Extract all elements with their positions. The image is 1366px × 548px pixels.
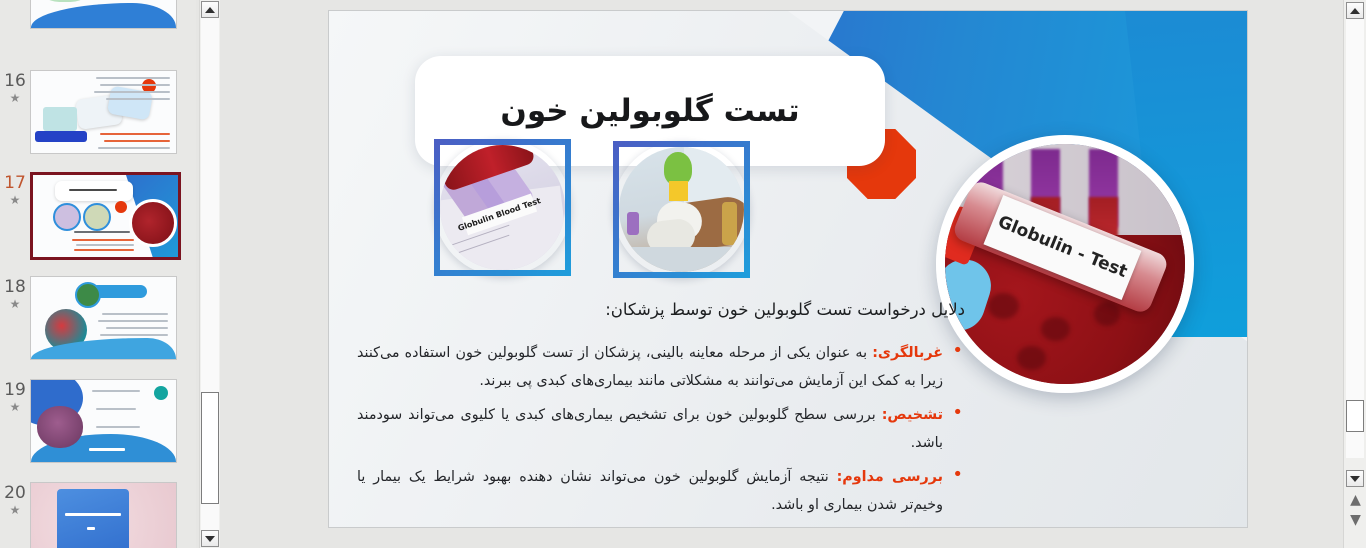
photo-circle-globulin-test-closeup[interactable]: Globulin - Test xyxy=(936,135,1194,393)
mini-page-number xyxy=(87,527,95,530)
plant-graphic xyxy=(664,152,692,185)
thumbnail-item-18[interactable]: 18 ★ xyxy=(0,276,196,360)
mini-photo-circle xyxy=(83,203,111,231)
thumbnail-preview-15[interactable] xyxy=(30,0,177,29)
mini-slide-19 xyxy=(31,380,176,462)
mini-slide-18 xyxy=(31,277,176,359)
mini-photo-circle xyxy=(75,282,101,308)
blood-cell xyxy=(1041,317,1070,341)
mini-text-line xyxy=(102,313,168,315)
mini-text-line xyxy=(100,133,170,135)
plant-pot xyxy=(669,181,688,201)
presentation-window: 15 ★ 16 ★ xyxy=(0,0,1366,548)
bullet-item-monitoring: بررسی مداوم: نتیجه آزمایش گلوبولین خون م… xyxy=(357,463,965,519)
mini-text-line xyxy=(100,334,168,336)
purple-tube xyxy=(627,212,640,235)
page-title: تست گلوبولین خون xyxy=(500,93,799,129)
mini-title-card xyxy=(55,181,133,201)
mini-text-line xyxy=(94,91,170,93)
mini-blue-panel xyxy=(57,489,129,548)
thumbnail-preview-19[interactable] xyxy=(30,379,177,463)
blood-cell xyxy=(1017,346,1046,370)
slide-editing-area[interactable]: تست گلوبولین خون Globulin Blood Test xyxy=(222,0,1344,548)
mini-text-line xyxy=(74,231,130,233)
thumbnail-item-20[interactable]: 20 ★ xyxy=(0,482,196,548)
tourniquet-strap xyxy=(722,202,737,245)
mini-text-line xyxy=(104,140,170,142)
mini-orange-dot xyxy=(115,201,127,213)
triangle-down-icon xyxy=(205,536,215,542)
scroll-down-button[interactable] xyxy=(201,530,219,547)
blood-draw-photo xyxy=(619,147,744,272)
animation-star-icon: ★ xyxy=(0,400,30,414)
thumbnail-number-col-16: 16 ★ xyxy=(0,70,30,105)
mini-text-line xyxy=(74,249,134,251)
mini-thankyou-label xyxy=(65,513,121,516)
mini-photo-card xyxy=(43,107,77,131)
thumbnail-preview-20[interactable] xyxy=(30,482,177,548)
bullet-text: بررسی سطح گلوبولین خون برای تشخیص بیماری… xyxy=(357,407,943,451)
thumbnail-preview-18[interactable] xyxy=(30,276,177,360)
mini-text-line xyxy=(76,244,134,246)
photo-circle-globulin-tubes[interactable]: Globulin Blood Test xyxy=(434,139,571,276)
bullet-label: بررسی مداوم: xyxy=(837,469,943,485)
scrollbar-track[interactable] xyxy=(1346,19,1364,458)
scrollbar-thumb[interactable] xyxy=(1346,400,1364,432)
previous-slide-button[interactable]: ▲ xyxy=(1349,494,1362,507)
mini-text-line xyxy=(100,84,170,86)
animation-star-icon: ★ xyxy=(0,91,30,105)
thumbnail-number-col-19: 19 ★ xyxy=(0,379,30,414)
mini-wave xyxy=(31,3,176,28)
animation-star-icon: ★ xyxy=(0,193,30,207)
body-lead-text: دلایل درخواست تست گلوبولین خون توسط پزشک… xyxy=(357,297,965,323)
thumbnail-pane-scrollbar[interactable] xyxy=(199,0,220,548)
scroll-up-button[interactable] xyxy=(201,1,219,18)
scroll-down-button[interactable] xyxy=(1346,470,1364,487)
current-slide-canvas[interactable]: تست گلوبولین خون Globulin Blood Test xyxy=(328,10,1248,528)
thumbnail-number-col-18: 18 ★ xyxy=(0,276,30,311)
mini-text-line xyxy=(98,147,170,149)
globulin-test-tube-photo: Globulin - Test xyxy=(945,144,1185,384)
globulin-blood-test-photo: Globulin Blood Test xyxy=(440,145,565,270)
thumbnail-number: 17 xyxy=(0,174,30,193)
mini-slide-20 xyxy=(31,483,176,548)
mini-slide-17 xyxy=(33,175,178,257)
thumbnail-number: 19 xyxy=(0,381,30,400)
scrollbar-thumb[interactable] xyxy=(201,392,219,504)
mini-text-line xyxy=(72,239,134,241)
mini-text-line xyxy=(92,390,140,392)
mini-text-line xyxy=(96,426,140,428)
bullet-item-screening: غربالگری: به عنوان یکی از مرحله معاینه ب… xyxy=(357,339,965,395)
next-slide-button[interactable]: ▼ xyxy=(1349,514,1362,527)
mini-text-line xyxy=(106,327,168,329)
mini-text-line xyxy=(96,77,170,79)
thumbnail-item-19[interactable]: 19 ★ xyxy=(0,379,196,463)
thumbnail-item-16[interactable]: 16 ★ xyxy=(0,70,196,154)
mini-antibody-graphic xyxy=(37,0,93,2)
photo-circle-blood-draw[interactable] xyxy=(613,141,750,278)
bullet-list: غربالگری: به عنوان یکی از مرحله معاینه ب… xyxy=(357,339,965,519)
thumbnail-item-15[interactable]: 15 ★ xyxy=(0,0,196,29)
bullet-text: به عنوان یکی از مرحله معاینه بالینی، پزش… xyxy=(357,345,943,389)
bullet-label: تشخیص: xyxy=(882,407,943,423)
bullet-label: غربالگری: xyxy=(872,345,943,361)
animation-star-icon: ★ xyxy=(0,297,30,311)
thumbnail-preview-17[interactable] xyxy=(30,172,181,260)
thumbnail-preview-16[interactable] xyxy=(30,70,177,154)
double-arrow-down-icon: ▼ xyxy=(1350,514,1361,527)
mini-cell-graphic xyxy=(37,406,83,448)
animation-star-icon: ★ xyxy=(0,503,30,517)
mini-text-line xyxy=(98,320,168,322)
mini-text-line xyxy=(106,98,170,100)
thumbnail-number: 18 xyxy=(0,278,30,297)
bench-surface xyxy=(619,247,744,272)
thumbnail-number-col-17: 17 ★ xyxy=(0,172,30,207)
bullet-item-diagnosis: تشخیص: بررسی سطح گلوبولین خون برای تشخیص… xyxy=(357,401,965,457)
double-arrow-up-icon: ▲ xyxy=(1350,494,1361,507)
triangle-down-icon xyxy=(1350,476,1360,482)
triangle-up-icon xyxy=(205,7,215,13)
mini-references-label xyxy=(89,448,125,451)
triangle-up-icon xyxy=(1350,8,1360,14)
thumbnail-number: 16 xyxy=(0,72,30,91)
main-vertical-scrollbar[interactable]: ▲ ▼ xyxy=(1343,0,1366,548)
mini-photo-circle xyxy=(53,203,81,231)
slide-thumbnail-pane[interactable]: 15 ★ 16 ★ xyxy=(0,0,196,548)
mini-photo-circle-large xyxy=(129,199,177,247)
thumbnail-number-col-20: 20 ★ xyxy=(0,482,30,517)
mini-slide-15 xyxy=(31,0,176,28)
mini-text-line xyxy=(96,408,136,410)
mini-title-line xyxy=(69,189,117,191)
mini-blue-tag xyxy=(35,131,87,142)
mini-slide-16 xyxy=(31,71,176,153)
thumbnail-item-17[interactable]: 17 ★ xyxy=(0,172,196,260)
thumbnail-number: 20 xyxy=(0,484,30,503)
slide-body-text[interactable]: دلایل درخواست تست گلوبولین خون توسط پزشک… xyxy=(357,297,965,525)
scroll-up-button[interactable] xyxy=(1346,2,1364,19)
mini-logo-icon xyxy=(154,386,168,400)
